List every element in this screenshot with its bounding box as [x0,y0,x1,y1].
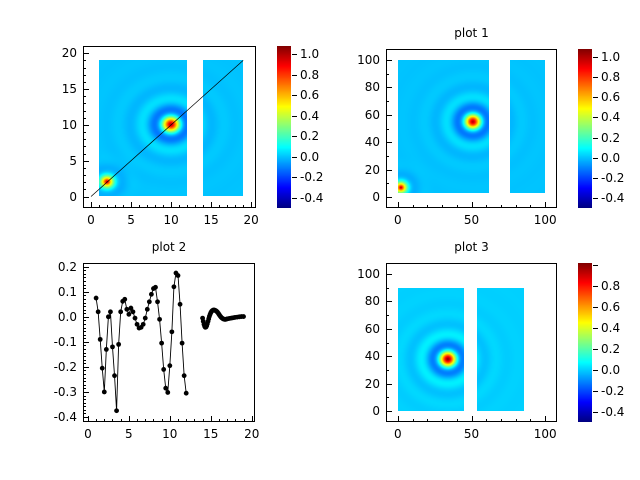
y-major-tick [386,329,392,330]
colorbar-tick [593,328,598,329]
y-tick-label: 80 [330,295,380,307]
y-tick-label: 20 [330,378,380,390]
colorbar-tick [593,412,598,413]
y-minor-tick [386,397,389,398]
y-minor-tick [386,343,389,344]
x-major-tick [472,416,473,422]
x-tick-label: 0 [373,428,423,440]
x-tick-label: 100 [520,428,570,440]
y-major-tick [386,356,392,357]
y-tick-label: 100 [330,268,380,280]
colorbar-tick-label: -0.4 [601,406,624,418]
colorbar-tick [593,286,598,287]
colorbar-tick-label: 0.0 [601,364,620,376]
y-major-tick [386,411,392,412]
x-minor-tick [427,419,428,422]
colorbar-tick-label: 0.4 [601,322,620,334]
y-tick-label: 40 [330,350,380,362]
y-tick-label: 0 [330,405,380,417]
y-major-tick [386,274,392,275]
x-minor-tick [516,419,517,422]
x-minor-tick [486,419,487,422]
colorbar-tick [593,349,598,350]
y-tick-label: 60 [330,323,380,335]
colorbar-tick [593,265,598,266]
bottom-right-heatmap: plot 30501000204060801000.80.60.40.20.0-… [0,0,640,480]
x-minor-tick [442,419,443,422]
axes-frame [386,263,557,422]
colorbar-tick-label: 0.8 [601,280,620,292]
y-minor-tick [386,370,389,371]
colorbar-tick-label: 0.6 [601,301,620,313]
x-major-tick [398,416,399,422]
colorbar-tick-label: 0.2 [601,343,620,355]
x-minor-tick [501,419,502,422]
y-major-tick [386,384,392,385]
colorbar-tick [593,370,598,371]
x-minor-tick [530,419,531,422]
colorbar-tick [593,391,598,392]
colorbar-tick [593,307,598,308]
figure-canvas: 05101520051015201.00.80.60.40.20.0-0.2-0… [0,0,640,480]
y-minor-tick [386,315,389,316]
colorbar-3 [578,263,592,422]
x-minor-tick [457,419,458,422]
y-minor-tick [386,288,389,289]
x-major-tick [545,416,546,422]
panel-title: plot 3 [386,241,557,253]
y-major-tick [386,301,392,302]
x-minor-tick [413,419,414,422]
colorbar-tick-label: -0.2 [601,385,624,397]
x-tick-label: 50 [447,428,497,440]
